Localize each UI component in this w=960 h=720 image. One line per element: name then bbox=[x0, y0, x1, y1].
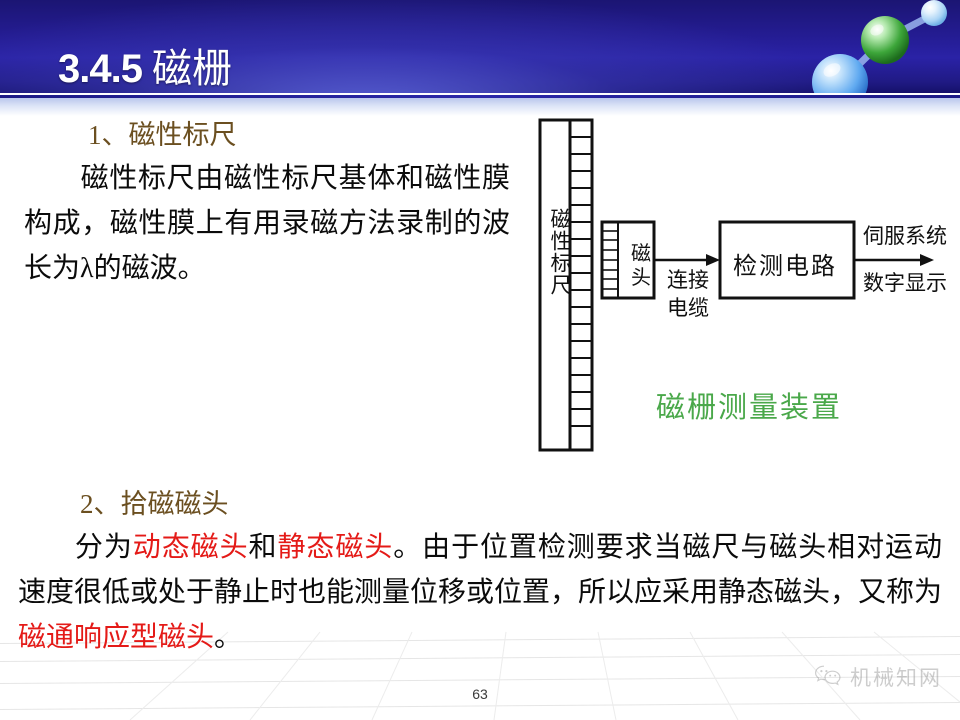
magnetic-grating-diagram: 磁 头 磁性标尺 检测电路 连接 电缆 伺服系统 数字显示 磁栅测量装置 bbox=[528, 112, 956, 462]
section-1-block: 1、磁性标尺 磁性标尺由磁性标尺基体和磁性膜构成，磁性膜上有用录磁方法录制的波长… bbox=[0, 118, 520, 291]
section-2-run-5: 磁通响应型磁头 bbox=[18, 622, 214, 653]
diagram-output-label-servo: 伺服系统 bbox=[863, 220, 947, 250]
diagram-cable-label-line1: 连接 bbox=[667, 264, 709, 294]
section-title: 磁栅 bbox=[152, 47, 232, 91]
wechat-icon-svg bbox=[813, 663, 843, 687]
diagram-cable-label-line2: 电缆 bbox=[667, 292, 709, 322]
section-2-run-2: 和 bbox=[249, 532, 278, 563]
section-2-body-text: 分为动态磁头和静态磁头。由于位置检测要求当磁尺与磁头相对运动速度很低或处于静止时… bbox=[18, 532, 942, 653]
section-2-run-6: 。 bbox=[214, 622, 242, 653]
section-2-heading: 2、拾磁磁头 bbox=[80, 487, 960, 521]
slide-root: 3.4.5磁栅 bbox=[0, 0, 960, 720]
section-2-body: 分为动态磁头和静态磁头。由于位置检测要求当磁尺与磁头相对运动速度很低或处于静止时… bbox=[0, 525, 960, 660]
section-2-run-1: 动态磁头 bbox=[133, 532, 249, 563]
section-1-body-text: 磁性标尺由磁性标尺基体和磁性膜构成，磁性膜上有用录磁方法录制的波长为λ的磁波。 bbox=[24, 163, 510, 284]
section-2-run-3: 静态磁头 bbox=[277, 532, 393, 563]
section-1-body: 磁性标尺由磁性标尺基体和磁性膜构成，磁性膜上有用录磁方法录制的波长为λ的磁波。 bbox=[0, 156, 520, 291]
section-2-run-0: 分为 bbox=[74, 532, 133, 563]
section-number: 3.4.5 bbox=[58, 47, 142, 91]
diagram-head-label-char2: 头 bbox=[631, 266, 651, 289]
page-title: 3.4.5磁栅 bbox=[58, 36, 232, 93]
molecule-icon bbox=[790, 0, 960, 93]
molecule-svg bbox=[790, 0, 960, 93]
section-2-block: 2、拾磁磁头 分为动态磁头和静态磁头。由于位置检测要求当磁尺与磁头相对运动速度很… bbox=[0, 487, 960, 660]
watermark: 机械知网 bbox=[813, 662, 942, 692]
wechat-icon bbox=[813, 663, 843, 692]
section-1-heading: 1、磁性标尺 bbox=[88, 118, 520, 152]
diagram-caption: 磁栅测量装置 bbox=[656, 384, 842, 426]
title-banner: 3.4.5磁栅 bbox=[0, 0, 960, 93]
diagram-output-label-display: 数字显示 bbox=[863, 267, 947, 297]
watermark-text: 机械知网 bbox=[850, 662, 942, 692]
diagram-scale-label: 磁性标尺 bbox=[545, 208, 575, 296]
diagram-head-label-char1: 磁 bbox=[631, 242, 651, 265]
diagram-circuit-label: 检测电路 bbox=[733, 246, 837, 281]
